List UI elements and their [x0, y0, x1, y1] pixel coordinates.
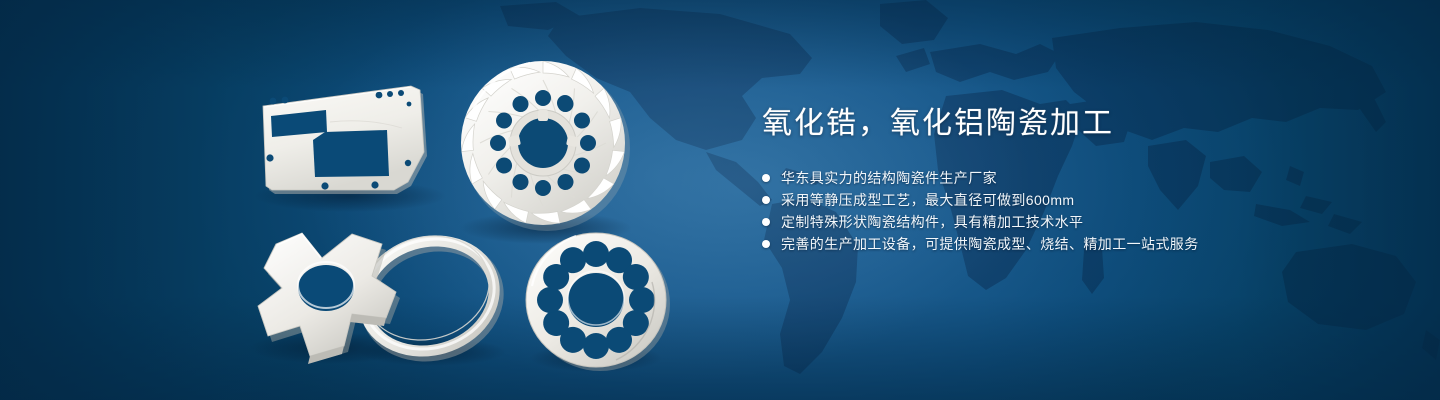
feature-item-4: 完善的生产加工设备，可提供陶瓷成型、烧结、精加工一站式服务 — [762, 233, 1382, 255]
ceramic-plate-part — [263, 86, 427, 194]
ceramic-impeller-part — [459, 58, 630, 231]
ceramic-products-image — [0, 0, 720, 400]
bullet-dot-icon — [762, 174, 770, 182]
feature-text-1: 华东具实力的结构陶瓷件生产厂家 — [781, 167, 997, 189]
feature-item-2: 采用等静压成型工艺，最大直径可做到600mm — [762, 189, 1382, 211]
feature-item-1: 华东具实力的结构陶瓷件生产厂家 — [762, 167, 1382, 189]
feature-text-2: 采用等静压成型工艺，最大直径可做到600mm — [781, 189, 1074, 211]
bullet-dot-icon — [762, 218, 770, 226]
hero-banner: 氧化锆，氧化铝陶瓷加工 华东具实力的结构陶瓷件生产厂家 采用等静压成型工艺，最大… — [0, 0, 1440, 400]
bullet-dot-icon — [762, 240, 770, 248]
feature-list: 华东具实力的结构陶瓷件生产厂家 采用等静压成型工艺，最大直径可做到600mm 定… — [762, 167, 1382, 255]
feature-text-4: 完善的生产加工设备，可提供陶瓷成型、烧结、精加工一站式服务 — [781, 233, 1199, 255]
page-title: 氧化锆，氧化铝陶瓷加工 — [762, 106, 1382, 141]
feature-text-3: 定制特殊形状陶瓷结构件，具有精加工技术水平 — [781, 211, 1083, 233]
banner-copy: 氧化锆，氧化铝陶瓷加工 华东具实力的结构陶瓷件生产厂家 采用等静压成型工艺，最大… — [762, 106, 1382, 255]
bullet-dot-icon — [762, 196, 770, 204]
feature-item-3: 定制特殊形状陶瓷结构件，具有精加工技术水平 — [762, 211, 1382, 233]
